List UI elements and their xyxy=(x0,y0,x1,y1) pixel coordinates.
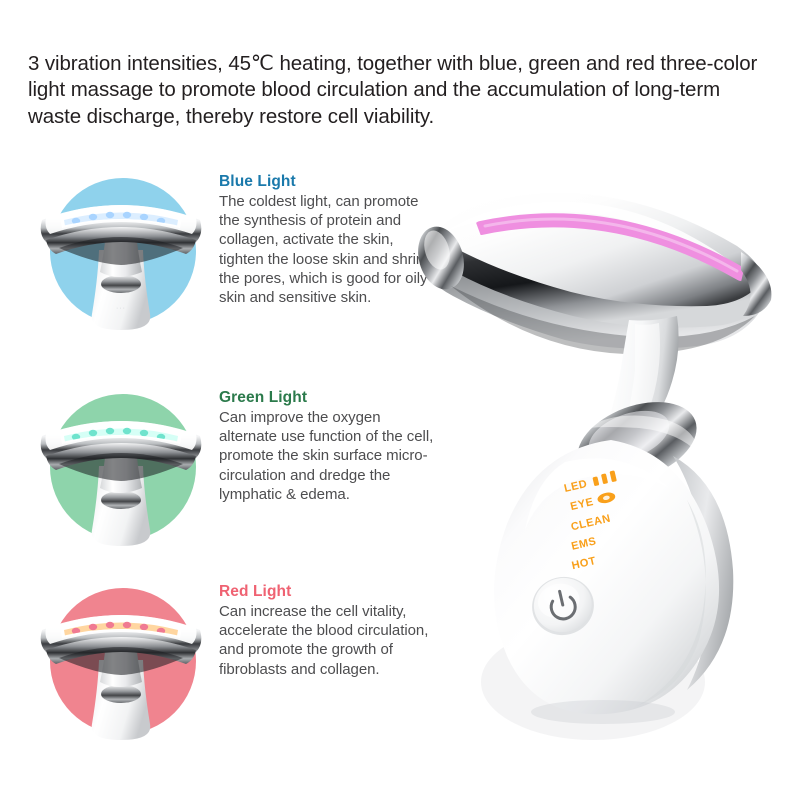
feature-text-red: Red Light Can increase the cell vitality… xyxy=(219,582,441,679)
led-dot xyxy=(123,212,131,218)
led-dot xyxy=(106,622,114,628)
led-dot xyxy=(89,214,97,220)
feature-body-red: Can increase the cell vitality, accelera… xyxy=(219,602,441,679)
thumbnail-red-light xyxy=(26,582,216,762)
led-dot xyxy=(140,624,148,630)
thumbnail-green-light xyxy=(26,388,216,568)
feature-body-green: Can improve the oxygen alternate use fun… xyxy=(219,408,441,504)
device-thumbnail-green-icon xyxy=(26,388,216,568)
led-dot xyxy=(123,428,131,434)
feature-title-blue: Blue Light xyxy=(219,172,441,191)
feature-body-blue: The coldest light, can promote the synth… xyxy=(219,192,441,307)
led-dot xyxy=(106,212,114,218)
led-dot xyxy=(140,214,148,220)
product-infographic: 3 vibration intensities, 45℃ heating, to… xyxy=(0,0,800,800)
device-thumbnail-red-icon xyxy=(26,582,216,762)
feature-text-green: Green Light Can improve the oxygen alter… xyxy=(219,388,441,504)
led-dot xyxy=(89,430,97,436)
feature-title-green: Green Light xyxy=(219,388,441,407)
thumbnail-blue-light: ··· xyxy=(26,172,216,352)
led-dot xyxy=(89,624,97,630)
led-dot xyxy=(123,622,131,628)
svg-text:···: ··· xyxy=(116,305,126,312)
feature-text-blue: Blue Light The coldest light, can promot… xyxy=(219,172,441,307)
feature-title-red: Red Light xyxy=(219,582,441,601)
led-dot xyxy=(140,430,148,436)
led-dot xyxy=(106,428,114,434)
intro-paragraph: 3 vibration intensities, 45℃ heating, to… xyxy=(28,51,770,131)
device-thumbnail-blue-icon: ··· xyxy=(26,172,216,352)
hero-product-image: LED EYE CLEAN EMS HOT xyxy=(415,170,800,770)
